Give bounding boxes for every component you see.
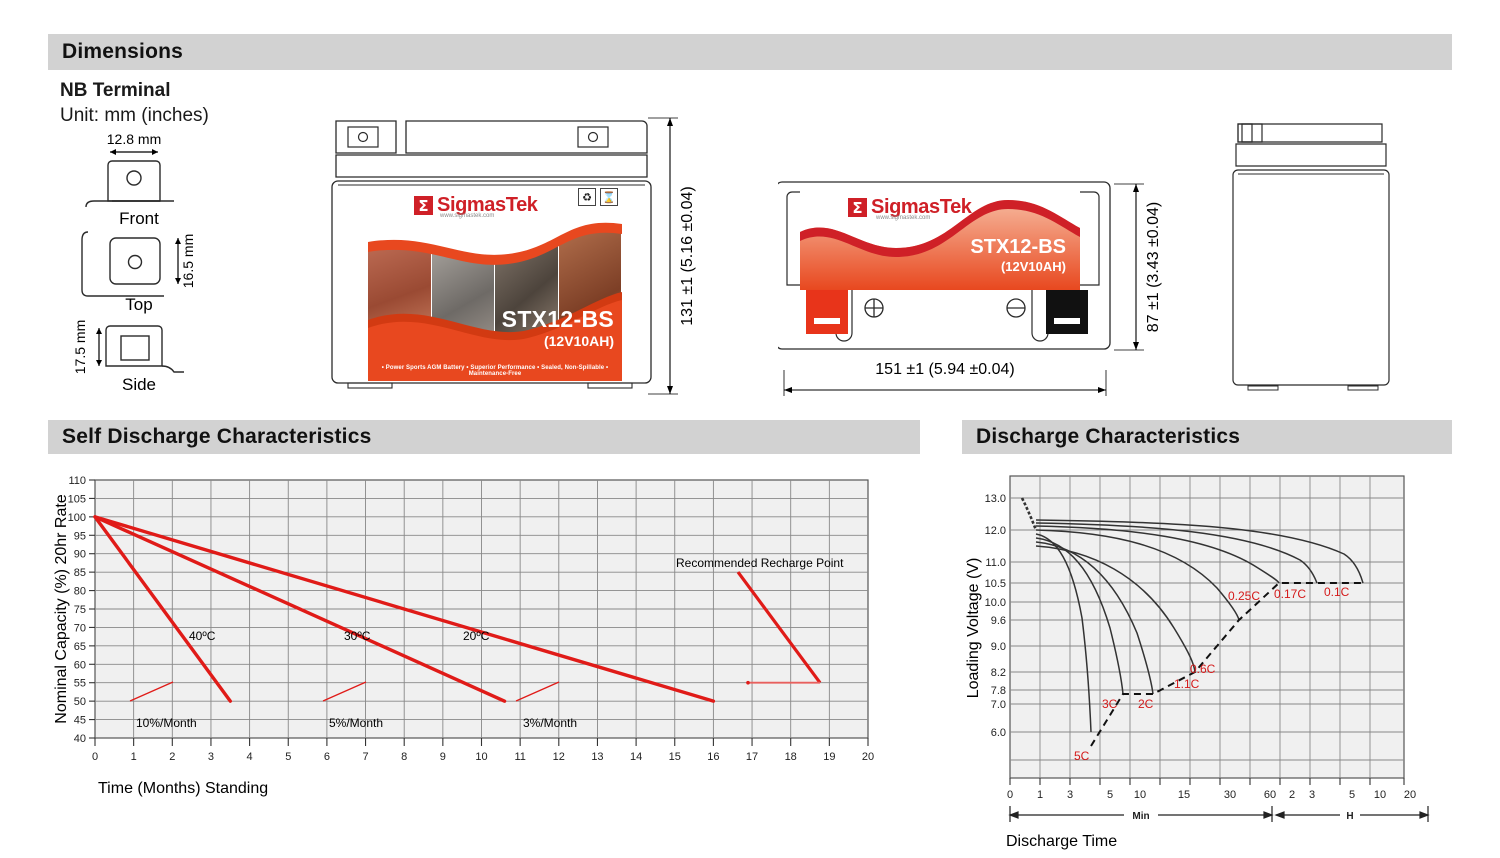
label-5c: 5C <box>1074 749 1090 763</box>
svg-text:7: 7 <box>362 751 368 763</box>
discharge-x-axis-title: Discharge Time <box>1006 833 1117 850</box>
height-dimension-label: 131 ±1 (5.16 ±0.04) <box>679 186 696 325</box>
svg-text:3: 3 <box>208 751 214 763</box>
section-header-discharge: Discharge Characteristics <box>962 420 1452 454</box>
svg-text:60: 60 <box>74 659 86 671</box>
model-rating: (12V10AH) <box>970 259 1066 274</box>
svg-text:2: 2 <box>169 751 175 763</box>
product-label-front: Σ SigmasTek www.sigmastek.com STX12-BS (… <box>368 186 622 381</box>
x-tick-10h: 10 <box>1374 789 1386 801</box>
terminal-view-front-label: Front <box>119 209 159 228</box>
x-unit-hour: H <box>1346 811 1353 822</box>
annotation-5-pct-month: 5%/Month <box>329 716 383 730</box>
terminal-view-side-label: Side <box>122 375 156 394</box>
section-title-discharge: Discharge Characteristics <box>976 425 1240 449</box>
svg-text:45: 45 <box>74 715 86 727</box>
terminal-height-dimension <box>96 328 102 366</box>
svg-text:9.0: 9.0 <box>991 641 1006 653</box>
svg-text:85: 85 <box>74 567 86 579</box>
model-number: STX12-BS <box>502 306 614 333</box>
svg-text:12: 12 <box>553 751 565 763</box>
x-tick-15: 15 <box>1178 789 1190 801</box>
svg-text:8: 8 <box>401 751 407 763</box>
svg-text:14: 14 <box>630 751 642 763</box>
svg-text:105: 105 <box>68 493 86 505</box>
svg-text:0: 0 <box>92 751 98 763</box>
svg-text:70: 70 <box>74 622 86 634</box>
label-3c: 3C <box>1102 697 1118 711</box>
discharge-y-axis-title: Loading Voltage (V) <box>965 558 982 699</box>
svg-text:90: 90 <box>74 549 86 561</box>
svg-text:55: 55 <box>74 678 86 690</box>
model-rating: (12V10AH) <box>502 333 614 349</box>
label-0-25c: 0.25C <box>1228 589 1260 603</box>
svg-text:10.0: 10.0 <box>985 597 1006 609</box>
depth-dimension: 87 ±1 (3.43 ±0.04) <box>1112 178 1178 358</box>
svg-text:1: 1 <box>131 751 137 763</box>
annotation-30c: 30ºC <box>344 629 371 643</box>
terminal-top-view <box>82 232 181 296</box>
label-2c: 2C <box>1138 697 1154 711</box>
svg-text:10.5: 10.5 <box>985 578 1006 590</box>
svg-text:5: 5 <box>285 751 291 763</box>
x-tick-5h: 5 <box>1349 789 1355 801</box>
svg-text:8.2: 8.2 <box>991 667 1006 679</box>
annotation-recommended-recharge: Recommended Recharge Point <box>676 556 844 570</box>
terminal-type-label: NB Terminal <box>60 80 171 102</box>
label-0-6c: 0.6C <box>1190 662 1216 676</box>
section-title-dimensions: Dimensions <box>62 40 183 64</box>
model-block-front: STX12-BS (12V10AH) <box>502 306 614 349</box>
positive-terminal-pad <box>806 290 848 334</box>
recycle-icon: ♻ <box>578 188 596 206</box>
annotation-10-pct-month: 10%/Month <box>136 716 197 730</box>
annotation-40c: 40ºC <box>189 629 216 643</box>
section-title-self-discharge: Self Discharge Characteristics <box>62 425 371 449</box>
terminal-height-label: 17.5 mm <box>72 320 88 374</box>
svg-text:80: 80 <box>74 586 86 598</box>
terminal-front-view <box>86 161 174 207</box>
annotation-20c: 20ºC <box>463 629 490 643</box>
terminal-width-dimension <box>110 149 158 155</box>
svg-text:9: 9 <box>440 751 446 763</box>
self-discharge-y-axis-title: Nominal Capacity (%) 20hr Rate <box>53 494 70 724</box>
x-tick-30: 30 <box>1224 789 1236 801</box>
sigma-mark-icon: Σ <box>848 198 867 217</box>
self-discharge-x-axis-title: Time (Months) Standing <box>98 780 268 797</box>
svg-text:18: 18 <box>785 751 797 763</box>
battery-side-view <box>1232 118 1392 398</box>
model-number: STX12-BS <box>970 236 1066 259</box>
product-label-top: Σ SigmasTek www.sigmastek.com STX12-BS (… <box>800 190 1080 290</box>
terminal-drawings: 12.8 mm 16.5 mm 17.5 mm Front Top Side <box>55 128 305 408</box>
x-tick-3: 3 <box>1067 789 1073 801</box>
svg-text:4: 4 <box>247 751 253 763</box>
x-tick-2h: 2 <box>1289 789 1295 801</box>
x-unit-min: Min <box>1132 811 1149 822</box>
model-block-top: STX12-BS (12V10AH) <box>970 236 1066 274</box>
negative-terminal-pad <box>1046 290 1088 334</box>
svg-text:6.0: 6.0 <box>991 727 1006 739</box>
x-tick-1: 1 <box>1037 789 1043 801</box>
x-tick-10: 10 <box>1134 789 1146 801</box>
svg-text:17: 17 <box>746 751 758 763</box>
svg-text:110: 110 <box>68 475 86 487</box>
positive-polarity-icon <box>865 299 883 317</box>
brand-url: www.sigmastek.com <box>876 215 930 221</box>
terminal-depth-label: 16.5 mm <box>180 234 196 288</box>
discharge-chart: 13.0 12.0 11.0 10.5 10.0 9.6 9.0 8.2 7.8… <box>962 468 1462 853</box>
svg-text:15: 15 <box>669 751 681 763</box>
length-dimension: 151 ±1 (5.94 ±0.04) <box>770 350 1120 400</box>
x-tick-5: 5 <box>1107 789 1113 801</box>
svg-text:95: 95 <box>74 530 86 542</box>
no-bin-icon: ⌛ <box>600 188 618 206</box>
terminal-view-top-label: Top <box>125 295 152 314</box>
svg-text:11.0: 11.0 <box>985 557 1006 569</box>
section-header-dimensions: Dimensions <box>48 34 1452 70</box>
depth-dimension-label: 87 ±1 (3.43 ±0.04) <box>1145 202 1162 333</box>
svg-text:7.0: 7.0 <box>991 699 1006 711</box>
svg-text:50: 50 <box>74 696 86 708</box>
length-dimension-label: 151 ±1 (5.94 ±0.04) <box>875 361 1014 378</box>
label-0-17c: 0.17C <box>1274 587 1306 601</box>
svg-text:16: 16 <box>707 751 719 763</box>
unit-label: Unit: mm (inches) <box>60 105 209 127</box>
svg-text:40: 40 <box>74 733 86 745</box>
x-tick-3h: 3 <box>1309 789 1315 801</box>
svg-text:13: 13 <box>591 751 603 763</box>
svg-text:11: 11 <box>514 751 525 763</box>
svg-text:65: 65 <box>74 641 86 653</box>
svg-text:19: 19 <box>823 751 835 763</box>
svg-text:100: 100 <box>68 512 86 524</box>
svg-text:13.0: 13.0 <box>985 493 1006 505</box>
terminal-width-label: 12.8 mm <box>107 131 161 147</box>
negative-polarity-icon <box>1007 299 1025 317</box>
height-dimension: 131 ±1 (5.16 ±0.04) <box>648 112 718 404</box>
svg-text:10: 10 <box>475 751 487 763</box>
svg-text:12.0: 12.0 <box>985 525 1006 537</box>
annotation-3-pct-month: 3%/Month <box>523 716 577 730</box>
terminal-side-view <box>96 326 184 372</box>
svg-text:9.6: 9.6 <box>991 615 1006 627</box>
section-header-self-discharge: Self Discharge Characteristics <box>48 420 920 454</box>
x-tick-20h: 20 <box>1404 789 1416 801</box>
x-tick-0: 0 <box>1007 789 1013 801</box>
product-tagline: • Power Sports AGM Battery • Superior Pe… <box>368 365 622 377</box>
label-1-1c: 1.1C <box>1174 677 1200 691</box>
label-0-1c: 0.1C <box>1324 585 1350 599</box>
x-tick-60: 60 <box>1264 789 1276 801</box>
svg-text:6: 6 <box>324 751 330 763</box>
self-discharge-chart: 110105100 959085 807570 656055 504540 01… <box>48 470 928 820</box>
svg-text:7.8: 7.8 <box>991 685 1006 697</box>
brand-url: www.sigmastek.com <box>440 213 494 219</box>
svg-text:75: 75 <box>74 604 86 616</box>
sigma-mark-icon: Σ <box>414 196 433 215</box>
svg-text:20: 20 <box>862 751 874 763</box>
